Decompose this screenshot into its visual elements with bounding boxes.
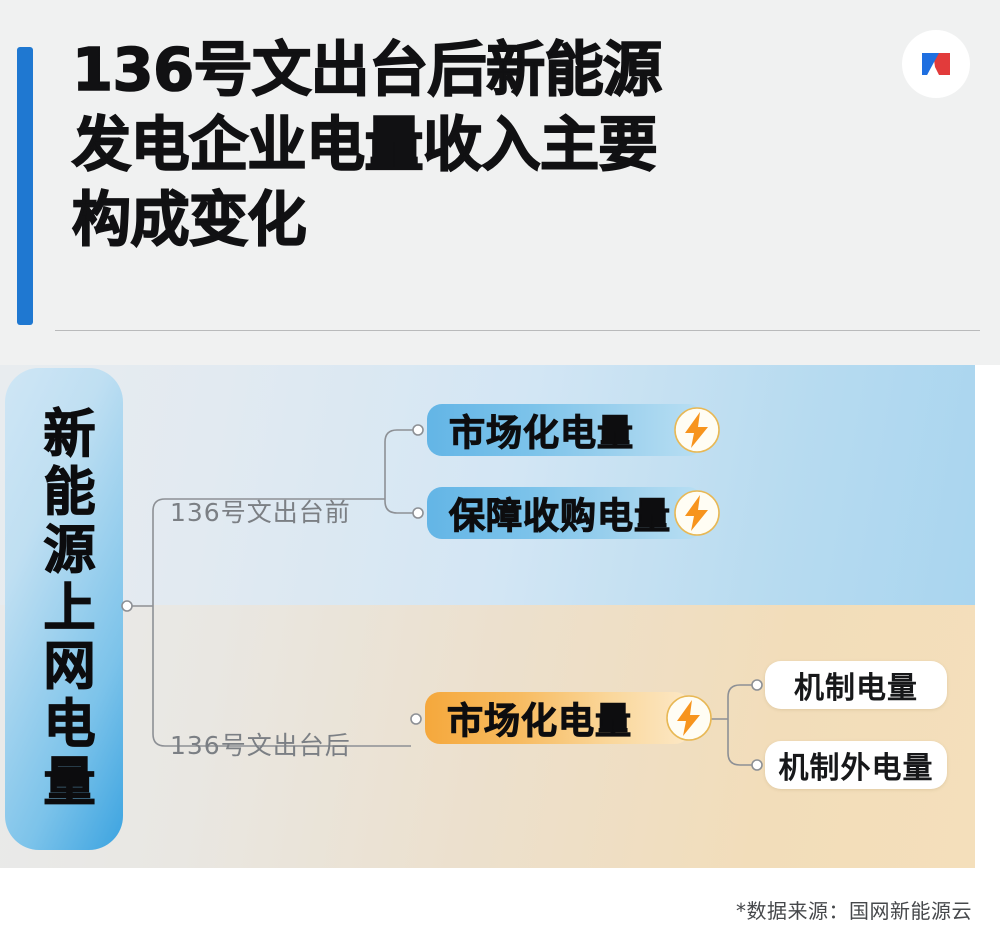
page-title-line-3: 构成变化 bbox=[72, 182, 772, 257]
node-label: 市场化电量 bbox=[447, 692, 632, 744]
subnode-label: 机制电量 bbox=[794, 663, 918, 707]
lightning-bolt-icon bbox=[672, 488, 722, 538]
page-title: 136号文出台后新能源 发电企业电量收入主要 构成变化 bbox=[72, 32, 772, 257]
branch-label-after: 136号文出台后 bbox=[170, 726, 351, 762]
page-title-line-1: 136号文出台后新能源 bbox=[72, 32, 772, 107]
branch-label-before: 136号文出台前 bbox=[170, 493, 351, 529]
header-panel: 136号文出台后新能源 发电企业电量收入主要 构成变化 bbox=[0, 0, 1000, 365]
node-label: 保障收购电量 bbox=[449, 487, 671, 539]
subnode-mechanism-electricity[interactable]: 机制电量 bbox=[765, 661, 947, 709]
node-label: 市场化电量 bbox=[449, 404, 634, 456]
node-guaranteed-purchase[interactable]: 保障收购电量 bbox=[427, 487, 703, 539]
data-source-note: *数据来源：国网新能源云 bbox=[736, 895, 972, 924]
header-accent-bar bbox=[17, 47, 33, 325]
lightning-bolt-icon bbox=[664, 693, 714, 743]
header-divider bbox=[55, 330, 980, 331]
lightning-bolt-icon bbox=[672, 405, 722, 455]
node-market-electricity-before[interactable]: 市场化电量 bbox=[427, 404, 703, 456]
brand-logo bbox=[902, 30, 970, 98]
page-title-line-2: 发电企业电量收入主要 bbox=[72, 107, 772, 182]
subnode-label: 机制外电量 bbox=[779, 743, 934, 787]
node-market-electricity-after[interactable]: 市场化电量 bbox=[425, 692, 690, 744]
subnode-non-mechanism-electricity[interactable]: 机制外电量 bbox=[765, 741, 947, 789]
diagram-panel: 新能源上网电量 bbox=[0, 365, 975, 868]
logo-n-mark-icon bbox=[913, 41, 959, 87]
